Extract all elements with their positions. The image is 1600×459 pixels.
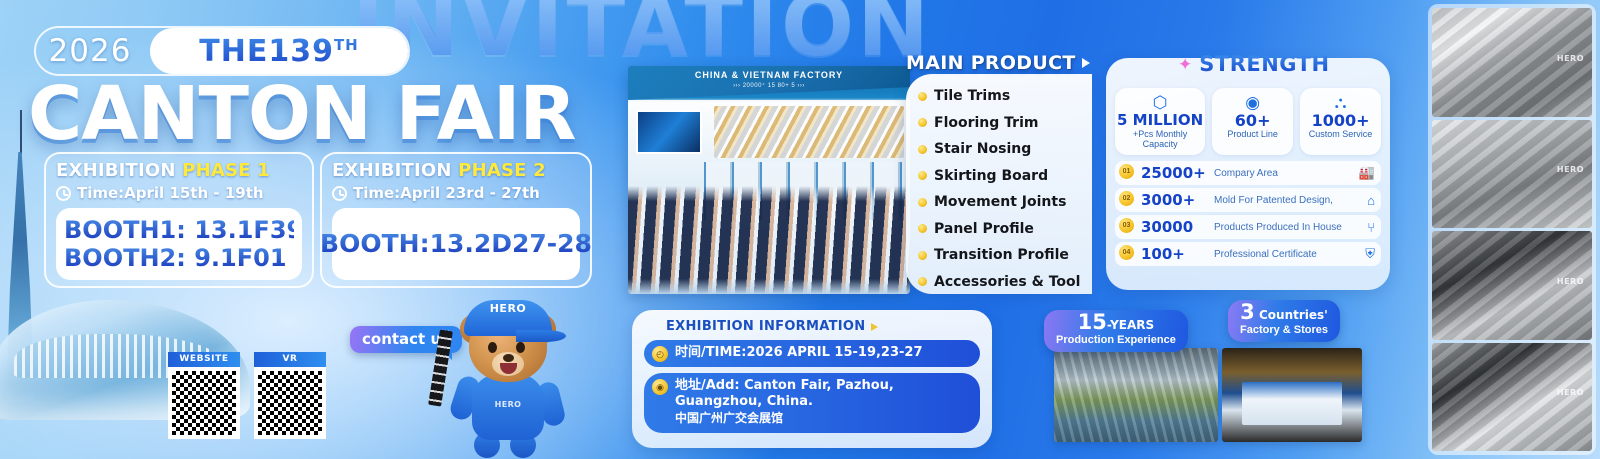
product-item[interactable]: Panel Profile xyxy=(918,216,1086,243)
clock-icon xyxy=(56,186,71,201)
edition-badge: THE139TH xyxy=(150,28,408,74)
row-number-badge: 02 xyxy=(1119,191,1134,206)
factory-icon: 🏭 xyxy=(1359,165,1375,181)
strength-panel: ⬡ 5 MILLION +Pcs Monthly Capacity ◉ 60+ … xyxy=(1106,58,1390,290)
bullet-dot-icon xyxy=(918,92,927,101)
row-number-badge: 04 xyxy=(1119,245,1134,260)
phase-2-booth-box: BOOTH:13.2D27-28 xyxy=(332,208,580,280)
phase-2-label: EXHIBITION xyxy=(332,160,452,181)
countries-badge-sub: Factory & Stores xyxy=(1240,324,1328,337)
hero-watermark: HERO xyxy=(1557,388,1584,397)
product-photo: HERO xyxy=(1432,343,1592,452)
bullet-dot-icon xyxy=(918,118,927,127)
bear-body-logo: HERO xyxy=(452,400,564,409)
phase-1-time-row: Time:April 15th - 19th xyxy=(56,184,302,202)
bullet-dot-icon xyxy=(918,145,927,154)
phase-1-number: PHASE 1 xyxy=(182,160,270,181)
bullet-dot-icon xyxy=(918,277,927,286)
row-number-badge: 01 xyxy=(1119,164,1134,179)
strength-card-label: Product Line xyxy=(1214,129,1291,139)
year-label: 2026 xyxy=(36,33,144,69)
strength-row-label: Mold For Patented Design, xyxy=(1214,195,1360,206)
phase-2-card: EXHIBITION PHASE 2 Time:April 23rd - 27t… xyxy=(320,152,592,288)
booth-banner-title: CHINA & VIETNAM FACTORY xyxy=(628,70,910,80)
bear-eye-right xyxy=(516,342,525,353)
booth-team-photo: CHINA & VIETNAM FACTORY ››› 20000⁺ 15 80… xyxy=(628,66,910,294)
strength-card: ⬡ 5 MILLION +Pcs Monthly Capacity xyxy=(1115,88,1205,155)
vr-qr-image[interactable] xyxy=(254,367,326,439)
expo-booth-photo xyxy=(1222,348,1362,442)
edition-suffix: TH xyxy=(334,36,359,54)
phase-1-booth-1: BOOTH1: 13.1F39-40 xyxy=(64,216,294,244)
certificate-shield-icon: ⛨ xyxy=(1365,246,1375,262)
product-label: Movement Joints xyxy=(934,194,1066,210)
phase-2-time-row: Time:April 23rd - 27th xyxy=(332,184,580,202)
clock-icon: ◴ xyxy=(652,346,668,362)
phase-1-label: EXHIBITION xyxy=(56,160,176,181)
main-product-heading: MAIN PRODUCT xyxy=(906,52,1090,74)
website-qr-caption: WEBSITE xyxy=(168,352,240,367)
website-qr-image[interactable] xyxy=(168,367,240,439)
phase-2-number: PHASE 2 xyxy=(458,160,546,181)
qr-pattern xyxy=(258,371,322,435)
booth-screen xyxy=(636,110,702,154)
strength-card-value: 60+ xyxy=(1214,112,1291,129)
exhibition-time-text: 时间/TIME:2026 APRIL 15-19,23-27 xyxy=(675,345,923,361)
strength-title: STRENGTH xyxy=(1199,52,1329,76)
hero-watermark: HERO xyxy=(1557,54,1584,63)
bear-nose xyxy=(503,354,514,362)
countries-badge: 3 Countries' Factory & Stores xyxy=(1228,300,1340,342)
hero-watermark: HERO xyxy=(1557,165,1584,174)
play-arrow-icon xyxy=(871,323,878,331)
product-item[interactable]: Flooring Trim xyxy=(918,110,1086,137)
strength-card: ⛬ 1000+ Custom Service xyxy=(1300,88,1381,155)
product-item[interactable]: Skirting Board xyxy=(918,163,1086,190)
bullet-dot-icon xyxy=(918,171,927,180)
booth-product-shelf xyxy=(714,106,904,158)
product-item[interactable]: Movement Joints xyxy=(918,189,1086,216)
product-photo: HERO xyxy=(1432,8,1592,117)
exhibition-address-pill: ◉ 地址/Add: Canton Fair, Pazhou, Guangzhou… xyxy=(644,373,980,433)
strength-row-label: Products Produced In House xyxy=(1214,222,1360,233)
years-badge: 15-YEARS Production Experience xyxy=(1044,310,1188,352)
years-number: 15 xyxy=(1078,310,1107,334)
strength-card-label: Custom Service xyxy=(1302,129,1379,139)
product-label: Flooring Trim xyxy=(934,115,1038,131)
product-label: Stair Nosing xyxy=(934,141,1031,157)
product-photo-column: HERO HERO HERO HERO xyxy=(1428,4,1596,455)
years-badge-top: 15-YEARS xyxy=(1056,313,1176,334)
phase-2-time: Time:April 23rd - 27th xyxy=(353,184,540,202)
website-qr-block[interactable]: WEBSITE xyxy=(168,352,240,439)
gear-cycle-icon: ◉ xyxy=(1214,93,1291,112)
strength-row: 01 25000+ Compary Area 🏭 xyxy=(1115,161,1381,185)
home-patent-icon: ⌂ xyxy=(1367,193,1375,208)
vr-qr-caption: VR xyxy=(254,352,326,367)
main-product-title: MAIN PRODUCT xyxy=(906,52,1076,74)
product-photo: HERO xyxy=(1432,120,1592,229)
exhibition-address-en: 地址/Add: Canton Fair, Pazhou, Guangzhou, … xyxy=(675,378,968,426)
strength-heading: ✦ STRENGTH xyxy=(1178,52,1330,76)
production-flow-icon: ⑂ xyxy=(1367,220,1375,235)
strength-row: 04 100+ Professional Certificate ⛨ xyxy=(1115,242,1381,266)
product-label: Skirting Board xyxy=(934,168,1048,184)
bear-cap-logo: HERO xyxy=(452,302,564,315)
product-label: Transition Profile xyxy=(934,247,1069,263)
strength-row: 03 30000 Products Produced In House ⑂ xyxy=(1115,215,1381,239)
strength-row-value: 100+ xyxy=(1141,245,1207,263)
countries-badge-top: 3 Countries' xyxy=(1240,303,1328,324)
phase-2-heading: EXHIBITION PHASE 2 xyxy=(332,160,580,181)
phase-1-heading: EXHIBITION PHASE 1 xyxy=(56,160,302,181)
strength-card: ◉ 60+ Product Line xyxy=(1212,88,1293,155)
address-english: 地址/Add: Canton Fair, Pazhou, Guangzhou, … xyxy=(675,378,894,409)
bullet-dot-icon xyxy=(918,224,927,233)
main-product-list: Tile Trims Flooring Trim Stair Nosing Sk… xyxy=(906,74,1092,294)
edition-pill: 2026 THE139TH xyxy=(34,26,410,76)
product-item[interactable]: Tile Trims xyxy=(918,83,1086,110)
promo-banner: INVITATION 2026 THE139TH CANTON FAIR EXH… xyxy=(0,0,1600,459)
clock-icon xyxy=(332,186,347,201)
edition-number: THE139 xyxy=(199,34,334,69)
countries-unit: Countries' xyxy=(1255,308,1328,322)
strength-card-row: ⬡ 5 MILLION +Pcs Monthly Capacity ◉ 60+ … xyxy=(1115,88,1381,155)
exhibition-time-pill: ◴ 时间/TIME:2026 APRIL 15-19,23-27 xyxy=(644,340,980,367)
sparkle-icon: ✦ xyxy=(1178,56,1192,73)
exhibition-information-card: EXHIBITION INFORMATION ◴ 时间/TIME:2026 AP… xyxy=(632,310,992,448)
strength-card-value: 1000+ xyxy=(1302,112,1379,129)
years-unit: -YEARS xyxy=(1107,318,1154,332)
countries-number: 3 xyxy=(1240,300,1255,324)
strength-row: 02 3000+ Mold For Patented Design, ⌂ xyxy=(1115,188,1381,212)
strength-stat-rows: 01 25000+ Compary Area 🏭 02 3000+ Mold F… xyxy=(1115,161,1381,266)
strength-row-label: Professional Certificate xyxy=(1214,249,1358,260)
product-label: Accessories & Tool xyxy=(934,274,1080,290)
product-item[interactable]: Accessories & Tool xyxy=(918,269,1086,296)
product-label: Tile Trims xyxy=(934,88,1010,104)
exhibition-info-title: EXHIBITION INFORMATION xyxy=(666,319,865,334)
chevron-right-icon xyxy=(1082,58,1090,68)
page-title: CANTON FAIR xyxy=(28,76,575,152)
product-photo: HERO xyxy=(1432,231,1592,340)
years-badge-sub: Production Experience xyxy=(1056,334,1176,347)
strength-row-value: 30000 xyxy=(1141,218,1207,236)
phase-1-time: Time:April 15th - 19th xyxy=(77,184,264,202)
qr-pattern xyxy=(172,371,236,435)
strength-card-value: 5 MILLION xyxy=(1117,112,1203,129)
people-icon: ⛬ xyxy=(1302,93,1379,112)
phase-1-card: EXHIBITION PHASE 1 Time:April 15th - 19t… xyxy=(44,152,314,288)
phase-2-booth-1: BOOTH:13.2D27-28 xyxy=(320,230,592,258)
location-pin-icon: ◉ xyxy=(652,379,668,395)
exhibition-info-heading: EXHIBITION INFORMATION xyxy=(666,319,980,334)
product-item[interactable]: Transition Profile xyxy=(918,242,1086,269)
product-item[interactable]: Stair Nosing xyxy=(918,136,1086,163)
strength-row-value: 25000+ xyxy=(1141,164,1207,182)
factory-photo xyxy=(1054,348,1218,442)
bullet-dot-icon xyxy=(918,251,927,260)
row-number-badge: 03 xyxy=(1119,218,1134,233)
cube-icon: ⬡ xyxy=(1117,93,1203,112)
hero-bear-mascot: HERO HERO xyxy=(452,292,564,459)
address-chinese: 中国广州广交会展馆 xyxy=(675,410,968,426)
bullet-dot-icon xyxy=(918,198,927,207)
tower-spire xyxy=(20,110,22,154)
strength-row-label: Compary Area xyxy=(1214,168,1352,179)
booth-banner: CHINA & VIETNAM FACTORY ››› 20000⁺ 15 80… xyxy=(628,66,910,100)
vr-qr-block[interactable]: VR xyxy=(254,352,326,439)
product-label: Panel Profile xyxy=(934,221,1034,237)
strength-card-label: +Pcs Monthly Capacity xyxy=(1117,129,1203,149)
booth-banner-stats: ››› 20000⁺ 15 80+ 5 ››› xyxy=(628,82,910,89)
team-members xyxy=(628,186,910,294)
invitation-watermark: INVITATION xyxy=(352,0,932,76)
hero-watermark: HERO xyxy=(1557,277,1584,286)
strength-row-value: 3000+ xyxy=(1141,191,1207,209)
phase-1-booth-2: BOOTH2: 9.1F01 xyxy=(64,244,294,272)
bear-eye-left xyxy=(488,342,497,353)
phase-1-booth-box: BOOTH1: 13.1F39-40 BOOTH2: 9.1F01 xyxy=(56,208,302,280)
